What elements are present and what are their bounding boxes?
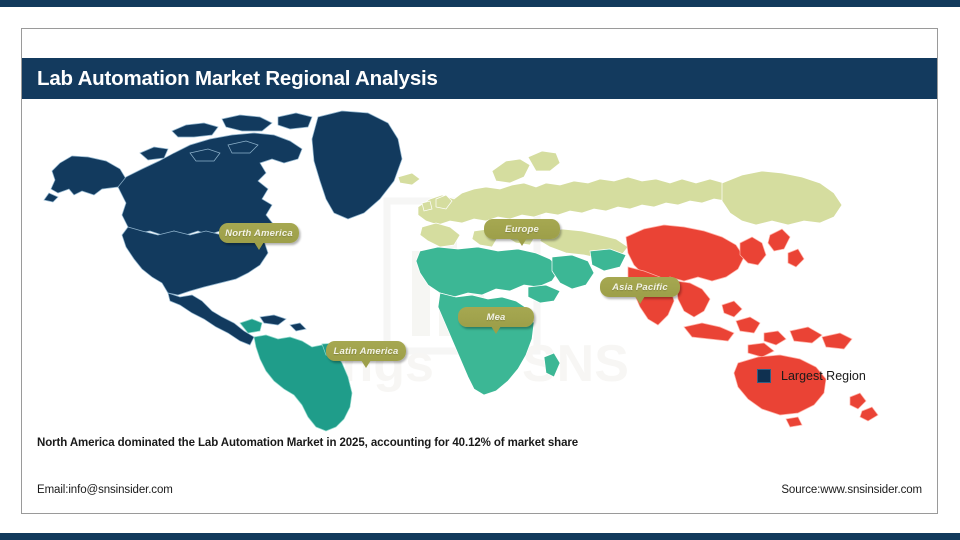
map-label-north-america[interactable]: North America [219,223,299,243]
map-label-north-america-text: North America [225,228,293,239]
footer-source[interactable]: Source:www.snsinsider.com [781,484,922,496]
map-label-europe[interactable]: Europe [484,219,560,239]
bottom-accent-bar [0,533,960,540]
region-latin-america [240,319,352,431]
page-title: Lab Automation Market Regional Analysis [37,67,438,91]
map-label-asia-pacific-text: Asia Pacific [612,282,668,293]
region-asia-pacific [626,225,878,427]
legend-swatch-largest-region [757,369,771,383]
footer-email[interactable]: Email:info@snsinsider.com [37,484,173,496]
map-label-mea[interactable]: Mea [458,307,534,327]
map-label-latin-america-text: Latin America [333,346,398,357]
map-regions [22,101,937,441]
top-accent-bar [0,0,960,7]
slide-card: Lab Automation Market Regional Analysis … [21,28,938,514]
legend: Largest Region [757,369,866,383]
map-label-asia-pacific[interactable]: Asia Pacific [600,277,680,297]
map-label-mea-text: Mea [486,312,505,323]
caption-text: North America dominated the Lab Automati… [37,437,578,449]
title-band: Lab Automation Market Regional Analysis [22,58,937,99]
legend-label-largest-region: Largest Region [781,369,866,383]
map-label-europe-text: Europe [505,224,539,235]
world-map: ings SNS [22,101,937,441]
map-label-latin-america[interactable]: Latin America [326,341,406,361]
footer: Email:info@snsinsider.com Source:www.sns… [22,484,937,496]
